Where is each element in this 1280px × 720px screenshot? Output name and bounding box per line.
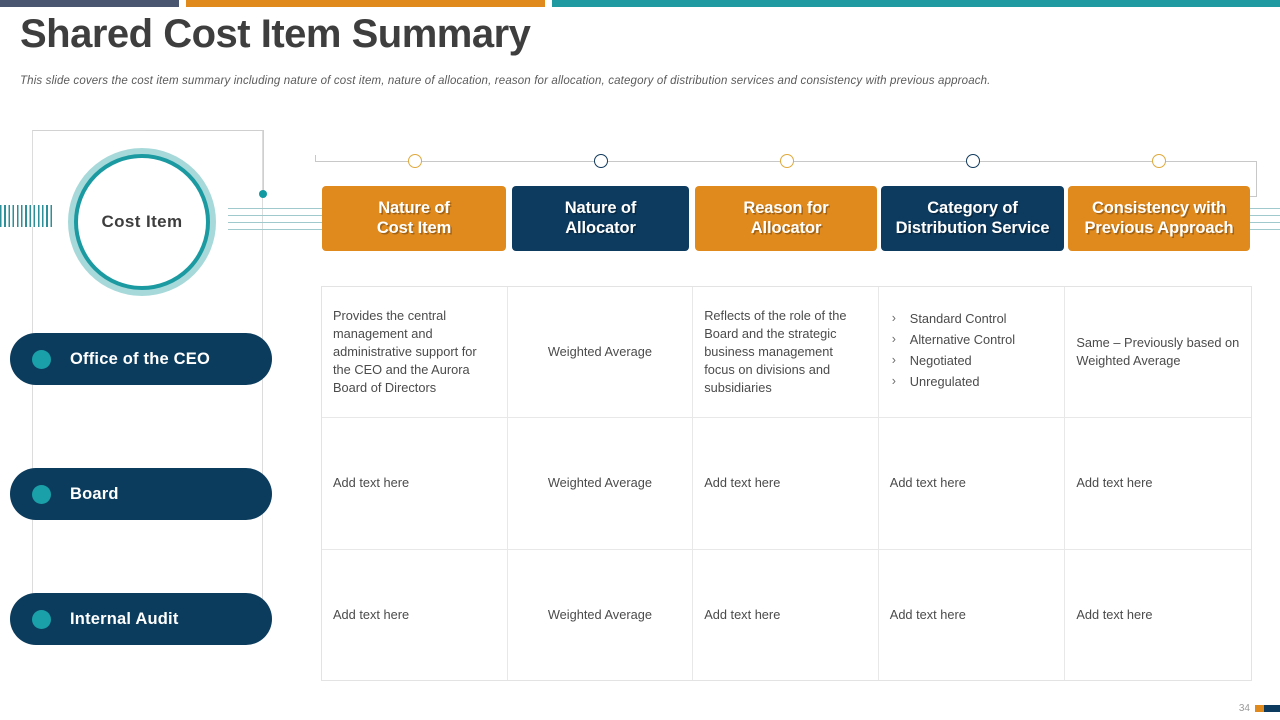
rail-node-icon-2 bbox=[594, 154, 608, 168]
rail-cap-right bbox=[1256, 161, 1257, 197]
chevron-right-icon: › bbox=[892, 331, 910, 349]
table-cell-nature-of-allocator: Weighted Average bbox=[508, 418, 694, 548]
table-cell-consistency-with-previous-approach: Same – Previously based on Weighted Aver… bbox=[1065, 287, 1251, 417]
sidebar-item-label: Board bbox=[70, 485, 119, 504]
list-item-label: Negotiated bbox=[910, 352, 972, 370]
footer-accent-navy bbox=[1264, 705, 1280, 712]
list-item: › Alternative Control bbox=[892, 331, 1054, 349]
hatch-stripes-decoration bbox=[0, 205, 52, 227]
accent-bar-orange bbox=[186, 0, 545, 7]
table-cell-nature-of-cost-item: Add text here bbox=[322, 418, 508, 548]
table-cell-nature-of-allocator: Weighted Average bbox=[508, 287, 694, 417]
chevron-right-icon: › bbox=[892, 352, 910, 370]
data-table: Provides the central management and admi… bbox=[321, 286, 1252, 681]
rail-node-icon-3 bbox=[780, 154, 794, 168]
table-cell-nature-of-cost-item: Provides the central management and admi… bbox=[322, 287, 508, 417]
cost-item-circle: Cost Item bbox=[68, 148, 216, 296]
pill-dot-icon bbox=[32, 350, 51, 369]
horizontal-lines-right bbox=[1248, 208, 1280, 238]
rail-node-icon-5 bbox=[1152, 154, 1166, 168]
sidebar-item-label: Internal Audit bbox=[70, 610, 179, 629]
column-header-line1: Category of bbox=[927, 199, 1018, 217]
list-item: › Negotiated bbox=[892, 352, 1054, 370]
column-header-line2: Cost Item bbox=[377, 219, 451, 237]
list-item-label: Alternative Control bbox=[910, 331, 1015, 349]
rail-cap-left bbox=[315, 155, 316, 162]
column-header-nature-of-allocator[interactable]: Nature of Allocator bbox=[512, 186, 689, 251]
sidebar-item-board[interactable]: Board bbox=[10, 468, 272, 520]
table-cell-reason-for-allocator: Reflects of the role of the Board and th… bbox=[693, 287, 879, 417]
accent-bar-teal bbox=[552, 0, 1280, 7]
column-header-line1: Reason for bbox=[743, 199, 828, 217]
column-header-line2: Distribution Service bbox=[896, 219, 1050, 237]
column-header-line1: Nature of bbox=[378, 199, 450, 217]
list-item-label: Unregulated bbox=[910, 373, 980, 391]
frame-connector-horizontal bbox=[146, 130, 264, 131]
accent-bar-slate bbox=[0, 0, 179, 7]
chevron-right-icon: › bbox=[892, 373, 910, 391]
column-header-reason-for-allocator[interactable]: Reason for Allocator bbox=[695, 186, 877, 251]
column-header-line1: Nature of bbox=[565, 199, 637, 217]
table-cell-reason-for-allocator: Add text here bbox=[693, 550, 879, 680]
footer-accent-orange bbox=[1255, 705, 1264, 712]
table-cell-nature-of-allocator: Weighted Average bbox=[508, 550, 694, 680]
table-cell-category-of-distribution-service: Add text here bbox=[879, 418, 1066, 548]
table-cell-consistency-with-previous-approach: Add text here bbox=[1065, 418, 1251, 548]
rail-node-icon-1 bbox=[408, 154, 422, 168]
page-title: Shared Cost Item Summary bbox=[20, 12, 530, 57]
list-item: › Standard Control bbox=[892, 310, 1054, 328]
slide-canvas: Shared Cost Item Summary This slide cove… bbox=[0, 0, 1280, 720]
sidebar-item-internal-audit[interactable]: Internal Audit bbox=[10, 593, 272, 645]
column-header-line1: Consistency with bbox=[1092, 199, 1226, 217]
page-number: 34 bbox=[1239, 703, 1250, 714]
table-cell-category-of-distribution-service: Add text here bbox=[879, 550, 1066, 680]
table-cell-category-of-distribution-service: › Standard Control › Alternative Control… bbox=[879, 287, 1066, 417]
list-item: › Unregulated bbox=[892, 373, 1054, 391]
column-header-consistency-with-previous-approach[interactable]: Consistency with Previous Approach bbox=[1068, 186, 1250, 251]
horizontal-lines-left bbox=[228, 208, 324, 238]
table-cell-reason-for-allocator: Add text here bbox=[693, 418, 879, 548]
pill-dot-icon bbox=[32, 610, 51, 629]
page-subtitle: This slide covers the cost item summary … bbox=[20, 75, 991, 87]
column-header-line2: Previous Approach bbox=[1085, 219, 1234, 237]
column-header-line2: Allocator bbox=[565, 219, 636, 237]
pill-dot-icon bbox=[32, 485, 51, 504]
rail-node-icon-4 bbox=[966, 154, 980, 168]
column-header-nature-of-cost-item[interactable]: Nature of Cost Item bbox=[322, 186, 506, 251]
cost-item-circle-label: Cost Item bbox=[68, 148, 216, 296]
column-header-line2: Allocator bbox=[751, 219, 822, 237]
table-cell-nature-of-cost-item: Add text here bbox=[322, 550, 508, 680]
sidebar-item-label: Office of the CEO bbox=[70, 350, 210, 369]
table-cell-consistency-with-previous-approach: Add text here bbox=[1065, 550, 1251, 680]
bullet-list: › Standard Control › Alternative Control… bbox=[890, 310, 1054, 395]
chevron-right-icon: › bbox=[892, 310, 910, 328]
column-header-category-of-distribution-service[interactable]: Category of Distribution Service bbox=[881, 186, 1064, 251]
teal-dot-marker bbox=[259, 190, 267, 198]
list-item-label: Standard Control bbox=[910, 310, 1007, 328]
sidebar-item-office-of-the-ceo[interactable]: Office of the CEO bbox=[10, 333, 272, 385]
table-row: Add text here Weighted Average Add text … bbox=[322, 550, 1251, 680]
table-row: Add text here Weighted Average Add text … bbox=[322, 418, 1251, 549]
table-row: Provides the central management and admi… bbox=[322, 287, 1251, 418]
frame-connector-vertical bbox=[263, 130, 264, 192]
